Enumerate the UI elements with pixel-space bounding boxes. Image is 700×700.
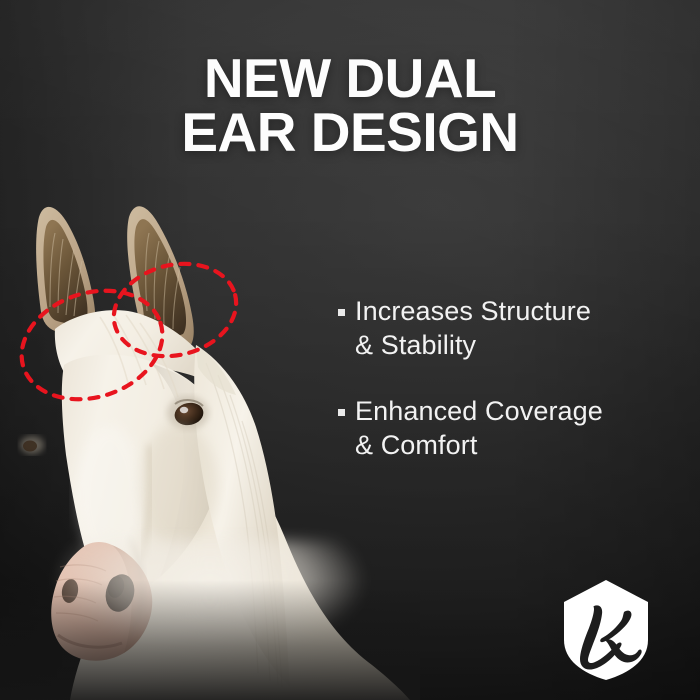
list-item: Increases Structure & Stability [338,294,668,362]
square-bullet-icon [338,409,345,416]
square-bullet-icon [338,309,345,316]
horse-eye [167,396,209,430]
horse-eye-far [20,436,44,454]
brand-logo [560,578,652,682]
shield-shape [564,580,648,680]
list-item: Enhanced Coverage & Comfort [338,394,668,462]
feature-bullet-list: Increases Structure & Stability Enhanced… [338,294,668,494]
promo-graphic: NEW DUAL EAR DESIGN Increases Structure … [0,0,700,700]
page-title: NEW DUAL EAR DESIGN [0,52,700,160]
bullet-text: Increases Structure & Stability [355,294,591,362]
bullet-text: Enhanced Coverage & Comfort [355,394,603,462]
shield-k-logo-icon [560,578,652,682]
